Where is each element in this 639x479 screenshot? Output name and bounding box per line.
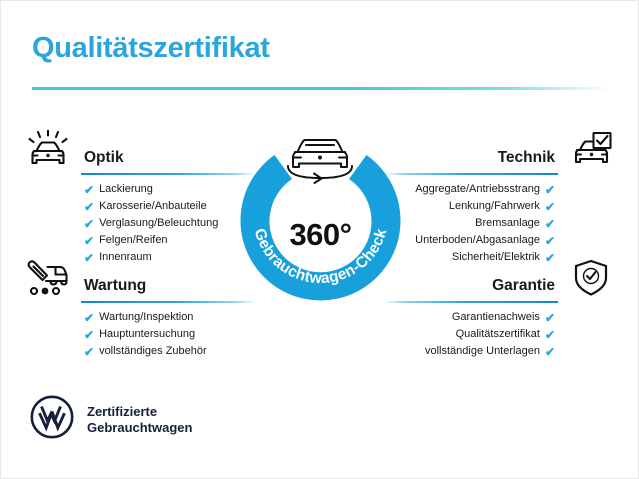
car-shine-icon bbox=[21, 129, 75, 171]
check-icon: ✔ bbox=[545, 346, 555, 358]
footer-brand-lockup: Zertifizierte Gebrauchtwagen bbox=[30, 395, 192, 444]
list-item-label: vollständige Unterlagen bbox=[425, 343, 540, 360]
check-icon: ✔ bbox=[84, 329, 94, 341]
list-item: ✔Wartung/Inspektion bbox=[84, 309, 256, 326]
section-title-optik: Optik bbox=[84, 150, 124, 166]
vw-logo bbox=[30, 395, 74, 444]
section-list-optik: ✔Lackierung ✔Karosserie/Anbauteile ✔Verg… bbox=[21, 181, 256, 266]
certificate-page: Qualitätszertifikat bbox=[0, 0, 639, 479]
badge-360-check: Gebrauchtwagen-Check 360° bbox=[227, 122, 414, 309]
list-item-label: Lenkung/Fahrwerk bbox=[449, 198, 540, 215]
car-rotate-icon bbox=[288, 140, 352, 183]
vw-lockup-line1: Zertifizierte bbox=[87, 404, 192, 420]
list-item: ✔vollständiges Zubehör bbox=[84, 343, 256, 360]
section-header-optik: Optik bbox=[21, 129, 256, 175]
list-item-label: Garantienachweis bbox=[452, 309, 540, 326]
section-title-wartung: Wartung bbox=[84, 278, 146, 294]
check-icon: ✔ bbox=[545, 218, 555, 230]
section-title-garantie: Garantie bbox=[492, 278, 555, 294]
section-list-technik: Aggregate/Antriebsstrang✔ Lenkung/Fahrwe… bbox=[383, 181, 618, 266]
check-icon: ✔ bbox=[84, 201, 94, 213]
list-item-label: Hauptuntersuchung bbox=[99, 326, 195, 343]
page-title: Qualitätszertifikat bbox=[32, 34, 270, 63]
check-icon: ✔ bbox=[545, 312, 555, 324]
check-icon: ✔ bbox=[84, 184, 94, 196]
list-item: Garantienachweis✔ bbox=[383, 309, 555, 326]
check-icon: ✔ bbox=[545, 235, 555, 247]
check-icon: ✔ bbox=[84, 218, 94, 230]
section-header-technik: Technik bbox=[383, 129, 618, 175]
list-item-label: Aggregate/Antriebsstrang bbox=[415, 181, 540, 198]
car-checkbox-icon bbox=[564, 129, 618, 171]
shield-check-icon bbox=[564, 257, 618, 299]
section-list-wartung: ✔Wartung/Inspektion ✔Hauptuntersuchung ✔… bbox=[21, 309, 256, 360]
list-item-label: Karosserie/Anbauteile bbox=[99, 198, 207, 215]
check-icon: ✔ bbox=[545, 329, 555, 341]
list-item-label: Verglasung/Beleuchtung bbox=[99, 215, 218, 232]
list-item-label: Qualitätszertifikat bbox=[456, 326, 540, 343]
check-icon: ✔ bbox=[84, 346, 94, 358]
section-header-wartung: Wartung bbox=[21, 257, 256, 303]
section-list-garantie: Garantienachweis✔ Qualitätszertifikat✔ v… bbox=[383, 309, 618, 360]
check-icon: ✔ bbox=[84, 312, 94, 324]
badge-center-label: 360° bbox=[227, 219, 414, 250]
check-icon: ✔ bbox=[84, 235, 94, 247]
car-wrench-icon bbox=[21, 257, 75, 299]
check-icon: ✔ bbox=[545, 184, 555, 196]
list-item: vollständige Unterlagen✔ bbox=[383, 343, 555, 360]
badge-ring: Gebrauchtwagen-Check bbox=[227, 122, 414, 309]
header-divider bbox=[32, 87, 610, 90]
section-technik: Technik Aggregate/Antriebsstrang✔ Lenkun… bbox=[383, 129, 618, 266]
list-item-label: Lackierung bbox=[99, 181, 153, 198]
list-item-label: Felgen/Reifen bbox=[99, 232, 168, 249]
list-item-label: vollständiges Zubehör bbox=[99, 343, 207, 360]
vw-lockup-text: Zertifizierte Gebrauchtwagen bbox=[87, 404, 192, 436]
check-icon: ✔ bbox=[545, 201, 555, 213]
section-optik: Optik ✔Lackierung ✔Karosserie/Anbauteile… bbox=[21, 129, 256, 266]
section-title-technik: Technik bbox=[498, 150, 555, 166]
section-header-garantie: Garantie bbox=[383, 257, 618, 303]
list-item: Qualitätszertifikat✔ bbox=[383, 326, 555, 343]
section-wartung: Wartung ✔Wartung/Inspektion ✔Hauptunters… bbox=[21, 257, 256, 360]
list-item-label: Wartung/Inspektion bbox=[99, 309, 193, 326]
list-item-label: Bremsanlage bbox=[475, 215, 540, 232]
vw-lockup-line2: Gebrauchtwagen bbox=[87, 420, 192, 436]
section-garantie: Garantie Garantienachweis✔ Qualitätszert… bbox=[383, 257, 618, 360]
list-item-label: Unterboden/Abgasanlage bbox=[415, 232, 540, 249]
list-item: ✔Hauptuntersuchung bbox=[84, 326, 256, 343]
